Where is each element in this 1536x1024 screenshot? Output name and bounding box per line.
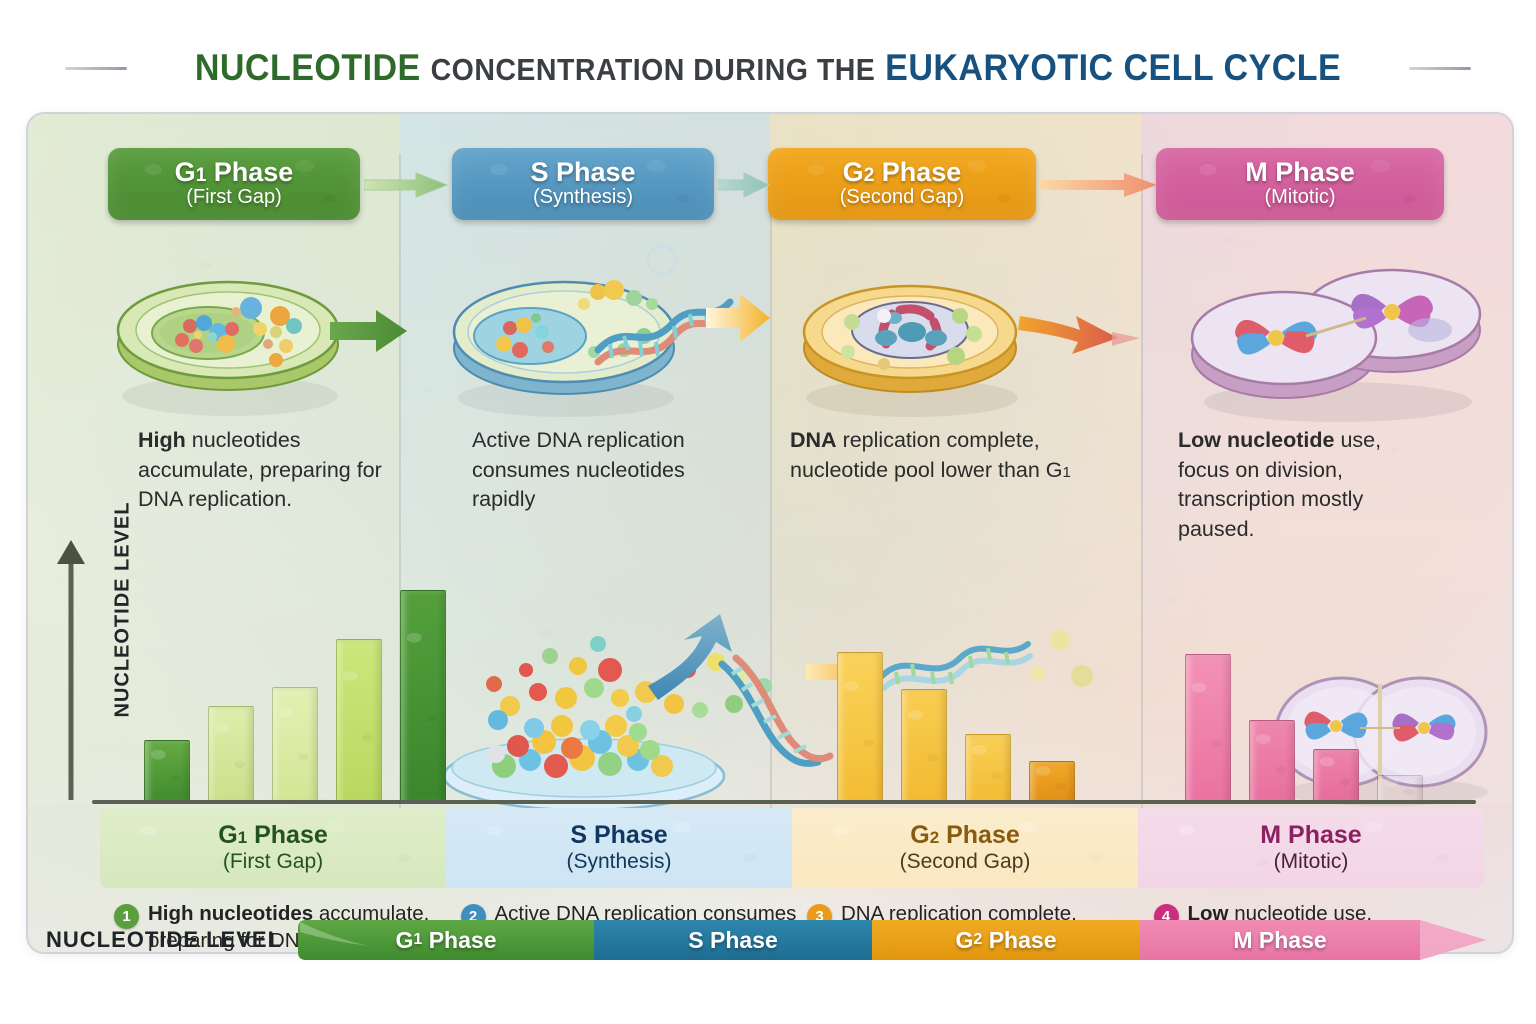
phase-description-g2-bold: DNA: [790, 428, 837, 452]
title-part-1: NUCLEOTIDE: [195, 47, 421, 88]
phase-chip-g2[interactable]: G2 Phase (Second Gap): [768, 148, 1036, 220]
bar-groups: [100, 564, 1476, 804]
phase-description-g2: DNA replication complete, nucleotide poo…: [790, 426, 1130, 485]
phase-description-s: Active DNA replication consumes nucleoti…: [472, 426, 732, 515]
bar-group-m: [1129, 564, 1476, 804]
cell-illustration-g2: [788, 234, 1140, 424]
title-part-2: CONCENTRATION DURING THE: [431, 52, 876, 87]
x-axis-label-g2-sub: (Second Gap): [900, 849, 1031, 874]
bar-m-1: [1185, 654, 1231, 804]
x-axis-label-g2-main: G2 Phase: [910, 822, 1020, 848]
x-axis-label-s: S Phase (Synthesis): [446, 808, 792, 888]
cell-illustration-s: [448, 232, 770, 424]
x-axis-label-g1-main: G1 Phase: [218, 822, 328, 848]
cell-illustration-g1: [108, 236, 408, 424]
bar-g1-4: [336, 639, 382, 804]
title-rule-right: [1409, 67, 1471, 70]
phase-chip-m-title: M Phase: [1245, 159, 1355, 187]
bar-g1-5: [400, 590, 446, 804]
phase-chip-g2-title: G2 Phase: [843, 159, 962, 187]
x-axis-label-s-main: S Phase: [570, 822, 667, 848]
footer-segment-g2[interactable]: G2 Phase: [872, 916, 1140, 964]
title-part-3: EUKARYOTIC CELL CYCLE: [885, 47, 1341, 88]
x-axis-label-m-main: M Phase: [1260, 822, 1361, 848]
phase-chip-g1[interactable]: G1 Phase (First Gap): [108, 148, 360, 220]
flow-arrow-g2-to-m-icon: [1040, 172, 1158, 196]
flow-arrow-s-to-g2-icon: [718, 172, 770, 196]
bar-m-2: [1249, 720, 1295, 804]
x-axis-label-g2: G2 Phase (Second Gap): [792, 808, 1138, 888]
phase-chip-m-subtitle: (Mitotic): [1264, 186, 1335, 209]
footer-segment-m[interactable]: M Phase: [1140, 916, 1420, 964]
flow-arrow-g1-to-s-icon: [364, 172, 448, 196]
phase-description-g1: High nucleotides accumulate, preparing f…: [138, 426, 388, 515]
bar-group-g2: [781, 564, 1128, 804]
phase-chip-g1-subtitle: (First Gap): [186, 186, 282, 209]
phase-description-m: Low nucleotide use, focus on division, t…: [1178, 426, 1438, 545]
phase-description-s-rest: Active DNA replication consumes nucleoti…: [472, 428, 685, 511]
bar-g2-3: [965, 734, 1011, 804]
bar-g2-1: [837, 652, 883, 804]
x-axis-label-g1: G1 Phase (First Gap): [100, 808, 446, 888]
phase-chip-s-subtitle: (Synthesis): [533, 186, 633, 209]
bar-chart: NUCLEOTIDE LEVEL: [100, 544, 1476, 804]
phase-description-g1-bold: High: [138, 428, 186, 452]
infographic-panel: G1 Phase (First Gap) S Phase (Synthesis)…: [26, 112, 1514, 954]
x-axis-labels: G1 Phase (First Gap) S Phase (Synthesis)…: [100, 808, 1484, 888]
x-axis-label-g1-sub: (First Gap): [223, 849, 323, 874]
bar-g1-1: [144, 740, 190, 804]
phase-chip-g1-title: G1 Phase: [175, 159, 294, 187]
footer-label: NUCLEOTIDE LEVEL: [46, 927, 282, 953]
footer-phase-bar[interactable]: G1 Phase S Phase G2 Phase M Phase: [298, 916, 1496, 964]
title-text: NUCLEOTIDE CONCENTRATION DURING THE EUKA…: [195, 47, 1341, 89]
y-axis-arrow-icon: [54, 538, 88, 806]
bar-g1-2: [208, 706, 254, 804]
bar-m-3: [1313, 749, 1359, 804]
cell-illustration-m: [1188, 226, 1488, 426]
bar-group-s: [446, 564, 781, 804]
bar-g2-4: [1029, 761, 1075, 804]
phase-chip-m[interactable]: M Phase (Mitotic): [1156, 148, 1444, 220]
footer-segment-s[interactable]: S Phase: [594, 916, 872, 964]
bar-g1-3: [272, 687, 318, 804]
x-axis-label-m: M Phase (Mitotic): [1138, 808, 1484, 888]
footer-segment-g1[interactable]: G1 Phase: [298, 916, 594, 964]
x-axis-label-s-sub: (Synthesis): [566, 849, 671, 874]
x-axis-label-m-sub: (Mitotic): [1274, 849, 1349, 874]
bar-g2-2: [901, 689, 947, 804]
footer-flow-bar: NUCLEOTIDE LEVEL G1 Phase S Phase G2 Pha…: [46, 912, 1496, 968]
phase-description-m-bold: Low nucleotide: [1178, 428, 1334, 452]
x-axis-line: [92, 800, 1476, 804]
bar-group-g1: [100, 564, 446, 804]
phase-chip-s-title: S Phase: [530, 159, 635, 187]
page-title: NUCLEOTIDE CONCENTRATION DURING THE EUKA…: [0, 38, 1536, 98]
phase-chip-s[interactable]: S Phase (Synthesis): [452, 148, 714, 220]
phase-chip-g2-subtitle: (Second Gap): [840, 186, 965, 209]
title-rule-left: [65, 67, 127, 70]
